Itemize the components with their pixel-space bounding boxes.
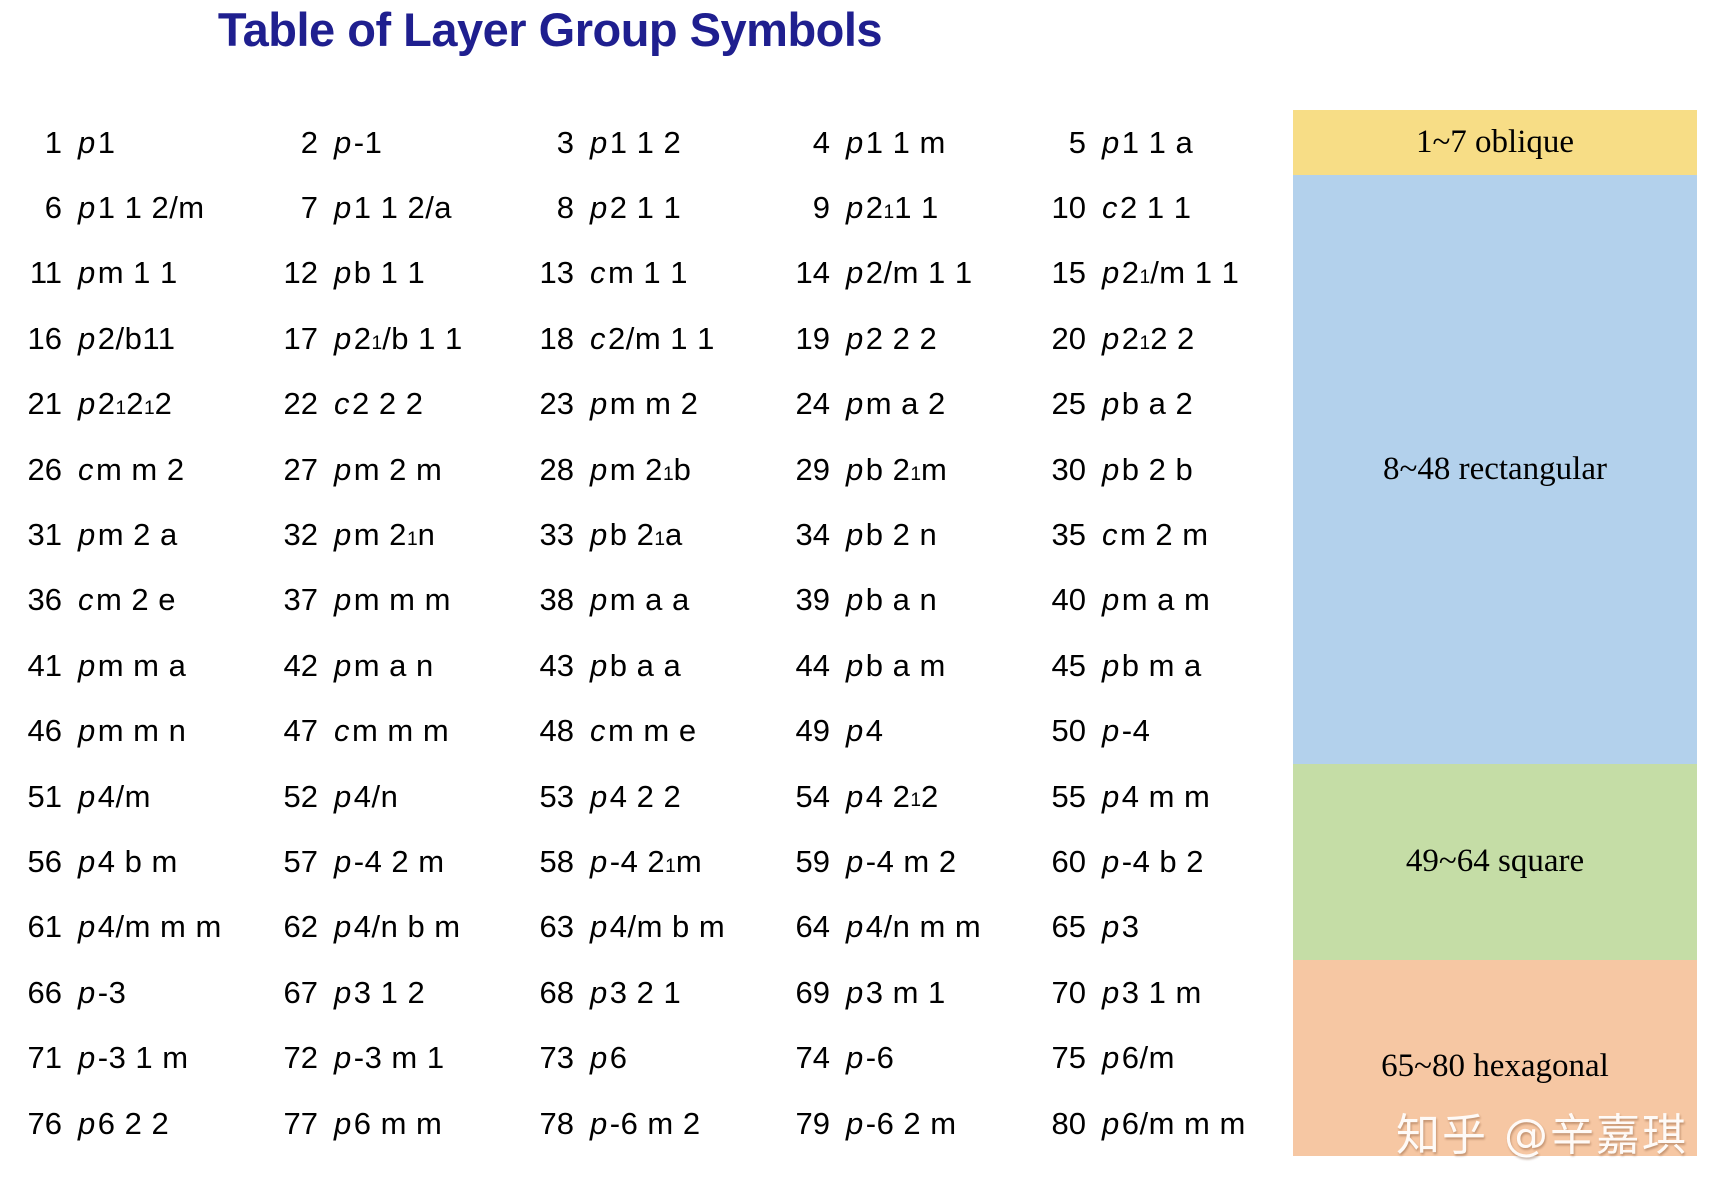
cell-symbol: p 2/b11 [69, 306, 269, 371]
cell-symbol: p -4 2 m [325, 829, 525, 894]
cell-number: 56 [13, 829, 69, 894]
cell-symbol: p b 21m [837, 437, 1037, 502]
cell-symbol: p m 1 1 [69, 241, 269, 306]
cell-number: 8 [525, 175, 581, 240]
cell-symbol: p 4 2 2 [581, 764, 781, 829]
cell-number: 62 [269, 895, 325, 960]
cell-symbol: p 4/m [69, 764, 269, 829]
cell-number: 43 [525, 633, 581, 698]
cell-number: 45 [1037, 633, 1093, 698]
cell-symbol: p 2 2 2 [837, 306, 1037, 371]
cell-number: 36 [13, 568, 69, 633]
cell-number: 49 [781, 699, 837, 764]
cell-number: 13 [525, 241, 581, 306]
cell-symbol: p m m n [69, 699, 269, 764]
cell-symbol: p 4 b m [69, 829, 269, 894]
legend-rectangular: 8~48 rectangular [1293, 175, 1697, 764]
cell-symbol: p 6/m m m [1093, 1091, 1293, 1156]
cell-number: 50 [1037, 699, 1093, 764]
cell-symbol: p b 1 1 [325, 241, 525, 306]
cell-symbol: p m 21n [325, 502, 525, 567]
cell-number: 30 [1037, 437, 1093, 502]
cell-number: 35 [1037, 502, 1093, 567]
cell-number: 27 [269, 437, 325, 502]
cell-number: 38 [525, 568, 581, 633]
cell-number: 41 [13, 633, 69, 698]
cell-number: 11 [13, 241, 69, 306]
cell-symbol: p m m m [325, 568, 525, 633]
cell-symbol: p b a n [837, 568, 1037, 633]
cell-symbol: p 6 [581, 1025, 781, 1090]
cell-number: 28 [525, 437, 581, 502]
cell-symbol: p m a 2 [837, 372, 1037, 437]
cell-number: 18 [525, 306, 581, 371]
cell-number: 2 [269, 110, 325, 175]
cell-number: 70 [1037, 960, 1093, 1025]
cell-symbol: c m m 2 [69, 437, 269, 502]
cell-symbol: p 6/m [1093, 1025, 1293, 1090]
cell-number: 39 [781, 568, 837, 633]
cell-number: 23 [525, 372, 581, 437]
cell-symbol: p b a 2 [1093, 372, 1293, 437]
legend-square: 49~64 square [1293, 764, 1697, 960]
cell-number: 10 [1037, 175, 1093, 240]
cell-number: 78 [525, 1091, 581, 1156]
cell-symbol: p -6 2 m [837, 1091, 1037, 1156]
cell-number: 66 [13, 960, 69, 1025]
cell-number: 64 [781, 895, 837, 960]
cell-symbol: p m 2 m [325, 437, 525, 502]
cell-number: 77 [269, 1091, 325, 1156]
cell-number: 6 [13, 175, 69, 240]
cell-number: 60 [1037, 829, 1093, 894]
cell-symbol: p b 21a [581, 502, 781, 567]
cell-symbol: p -4 21 m [581, 829, 781, 894]
cell-symbol: p 4 21 2 [837, 764, 1037, 829]
cell-number: 71 [13, 1025, 69, 1090]
cell-number: 5 [1037, 110, 1093, 175]
cell-symbol: p -6 m 2 [581, 1091, 781, 1156]
cell-symbol: p 2 1 1 [581, 175, 781, 240]
cell-number: 7 [269, 175, 325, 240]
cell-number: 68 [525, 960, 581, 1025]
cell-symbol: c m m m [325, 699, 525, 764]
cell-symbol: p b a m [837, 633, 1037, 698]
cell-symbol: p -3 [69, 960, 269, 1025]
cell-symbol: p -6 [837, 1025, 1037, 1090]
cell-symbol: p m 21b [581, 437, 781, 502]
cell-symbol: p b 2 n [837, 502, 1037, 567]
cell-number: 72 [269, 1025, 325, 1090]
cell-number: 44 [781, 633, 837, 698]
cell-number: 4 [781, 110, 837, 175]
cell-symbol: p m m a [69, 633, 269, 698]
cell-symbol: p b 2 b [1093, 437, 1293, 502]
cell-number: 33 [525, 502, 581, 567]
cell-number: 58 [525, 829, 581, 894]
cell-symbol: p -4 m 2 [837, 829, 1037, 894]
cell-symbol: p 2/m 1 1 [837, 241, 1037, 306]
cell-symbol: p m 2 a [69, 502, 269, 567]
cell-symbol: p 1 1 m [837, 110, 1037, 175]
cell-symbol: c m 2 e [69, 568, 269, 633]
cell-number: 75 [1037, 1025, 1093, 1090]
cell-symbol: p -3 1 m [69, 1025, 269, 1090]
cell-number: 46 [13, 699, 69, 764]
cell-number: 1 [13, 110, 69, 175]
cell-symbol: p 4 [837, 699, 1037, 764]
cell-symbol: p 21/b 1 1 [325, 306, 525, 371]
cell-number: 53 [525, 764, 581, 829]
cell-symbol: p -4 [1093, 699, 1293, 764]
cell-symbol: p 4 m m [1093, 764, 1293, 829]
cell-symbol: c m m e [581, 699, 781, 764]
cell-number: 47 [269, 699, 325, 764]
layer-group-table: 1p 12p -13p 1 1 24p 1 1 m5p 1 1 a1~7 obl… [13, 110, 1697, 1187]
cell-number: 22 [269, 372, 325, 437]
cell-symbol: p 1 [69, 110, 269, 175]
cell-symbol: p 21 1 1 [837, 175, 1037, 240]
cell-symbol: p 3 2 1 [581, 960, 781, 1025]
legend-oblique: 1~7 oblique [1293, 110, 1697, 175]
cell-symbol: p 4/m b m [581, 895, 781, 960]
cell-number: 76 [13, 1091, 69, 1156]
cell-number: 73 [525, 1025, 581, 1090]
cell-number: 52 [269, 764, 325, 829]
cell-number: 63 [525, 895, 581, 960]
cell-symbol: p b a a [581, 633, 781, 698]
cell-number: 21 [13, 372, 69, 437]
cell-number: 48 [525, 699, 581, 764]
cell-symbol: p b m a [1093, 633, 1293, 698]
cell-number: 40 [1037, 568, 1093, 633]
cell-number: 59 [781, 829, 837, 894]
cell-number: 55 [1037, 764, 1093, 829]
cell-number: 51 [13, 764, 69, 829]
cell-symbol: p 21 2 2 [1093, 306, 1293, 371]
cell-symbol: p m m 2 [581, 372, 781, 437]
cell-number: 12 [269, 241, 325, 306]
cell-number: 79 [781, 1091, 837, 1156]
cell-symbol: p 3 [1093, 895, 1293, 960]
cell-number: 25 [1037, 372, 1093, 437]
cell-number: 74 [781, 1025, 837, 1090]
legend-hexagonal: 65~80 hexagonal [1293, 960, 1697, 1156]
cell-number: 80 [1037, 1091, 1093, 1156]
cell-symbol: p 21 21 2 [69, 372, 269, 437]
cell-symbol: p 4/n b m [325, 895, 525, 960]
cell-number: 15 [1037, 241, 1093, 306]
cell-number: 29 [781, 437, 837, 502]
cell-symbol: c 2/m 1 1 [581, 306, 781, 371]
cell-number: 69 [781, 960, 837, 1025]
cell-symbol: p -1 [325, 110, 525, 175]
cell-number: 16 [13, 306, 69, 371]
cell-symbol: p 3 m 1 [837, 960, 1037, 1025]
cell-symbol: p 6 2 2 [69, 1091, 269, 1156]
cell-symbol: p 6 m m [325, 1091, 525, 1156]
page-title: Table of Layer Group Symbols [0, 2, 1100, 57]
cell-number: 34 [781, 502, 837, 567]
cell-number: 14 [781, 241, 837, 306]
cell-symbol: c m 1 1 [581, 241, 781, 306]
cell-number: 24 [781, 372, 837, 437]
cell-symbol: p m a m [1093, 568, 1293, 633]
cell-symbol: p 4/n [325, 764, 525, 829]
cell-number: 57 [269, 829, 325, 894]
cell-symbol: c 2 2 2 [325, 372, 525, 437]
cell-symbol: p m a a [581, 568, 781, 633]
cell-number: 19 [781, 306, 837, 371]
cell-number: 37 [269, 568, 325, 633]
cell-number: 65 [1037, 895, 1093, 960]
cell-number: 9 [781, 175, 837, 240]
cell-number: 61 [13, 895, 69, 960]
cell-number: 42 [269, 633, 325, 698]
cell-symbol: p m a n [325, 633, 525, 698]
cell-number: 20 [1037, 306, 1093, 371]
cell-symbol: c m 2 m [1093, 502, 1293, 567]
cell-symbol: p 1 1 a [1093, 110, 1293, 175]
cell-number: 17 [269, 306, 325, 371]
cell-symbol: p 1 1 2 [581, 110, 781, 175]
cell-number: 26 [13, 437, 69, 502]
cell-symbol: p 4/n m m [837, 895, 1037, 960]
cell-symbol: p -4 b 2 [1093, 829, 1293, 894]
layer-group-grid: 1p 12p -13p 1 1 24p 1 1 m5p 1 1 a1~7 obl… [13, 110, 1697, 1187]
cell-symbol: c 2 1 1 [1093, 175, 1293, 240]
cell-symbol: p 1 1 2/a [325, 175, 525, 240]
cell-number: 31 [13, 502, 69, 567]
cell-number: 32 [269, 502, 325, 567]
cell-symbol: p 4/m m m [69, 895, 269, 960]
cell-symbol: p 3 1 2 [325, 960, 525, 1025]
cell-number: 54 [781, 764, 837, 829]
cell-symbol: p 3 1 m [1093, 960, 1293, 1025]
cell-symbol: p 21/m 1 1 [1093, 241, 1293, 306]
cell-number: 3 [525, 110, 581, 175]
cell-number: 67 [269, 960, 325, 1025]
cell-symbol: p -3 m 1 [325, 1025, 525, 1090]
cell-symbol: p 1 1 2/m [69, 175, 269, 240]
